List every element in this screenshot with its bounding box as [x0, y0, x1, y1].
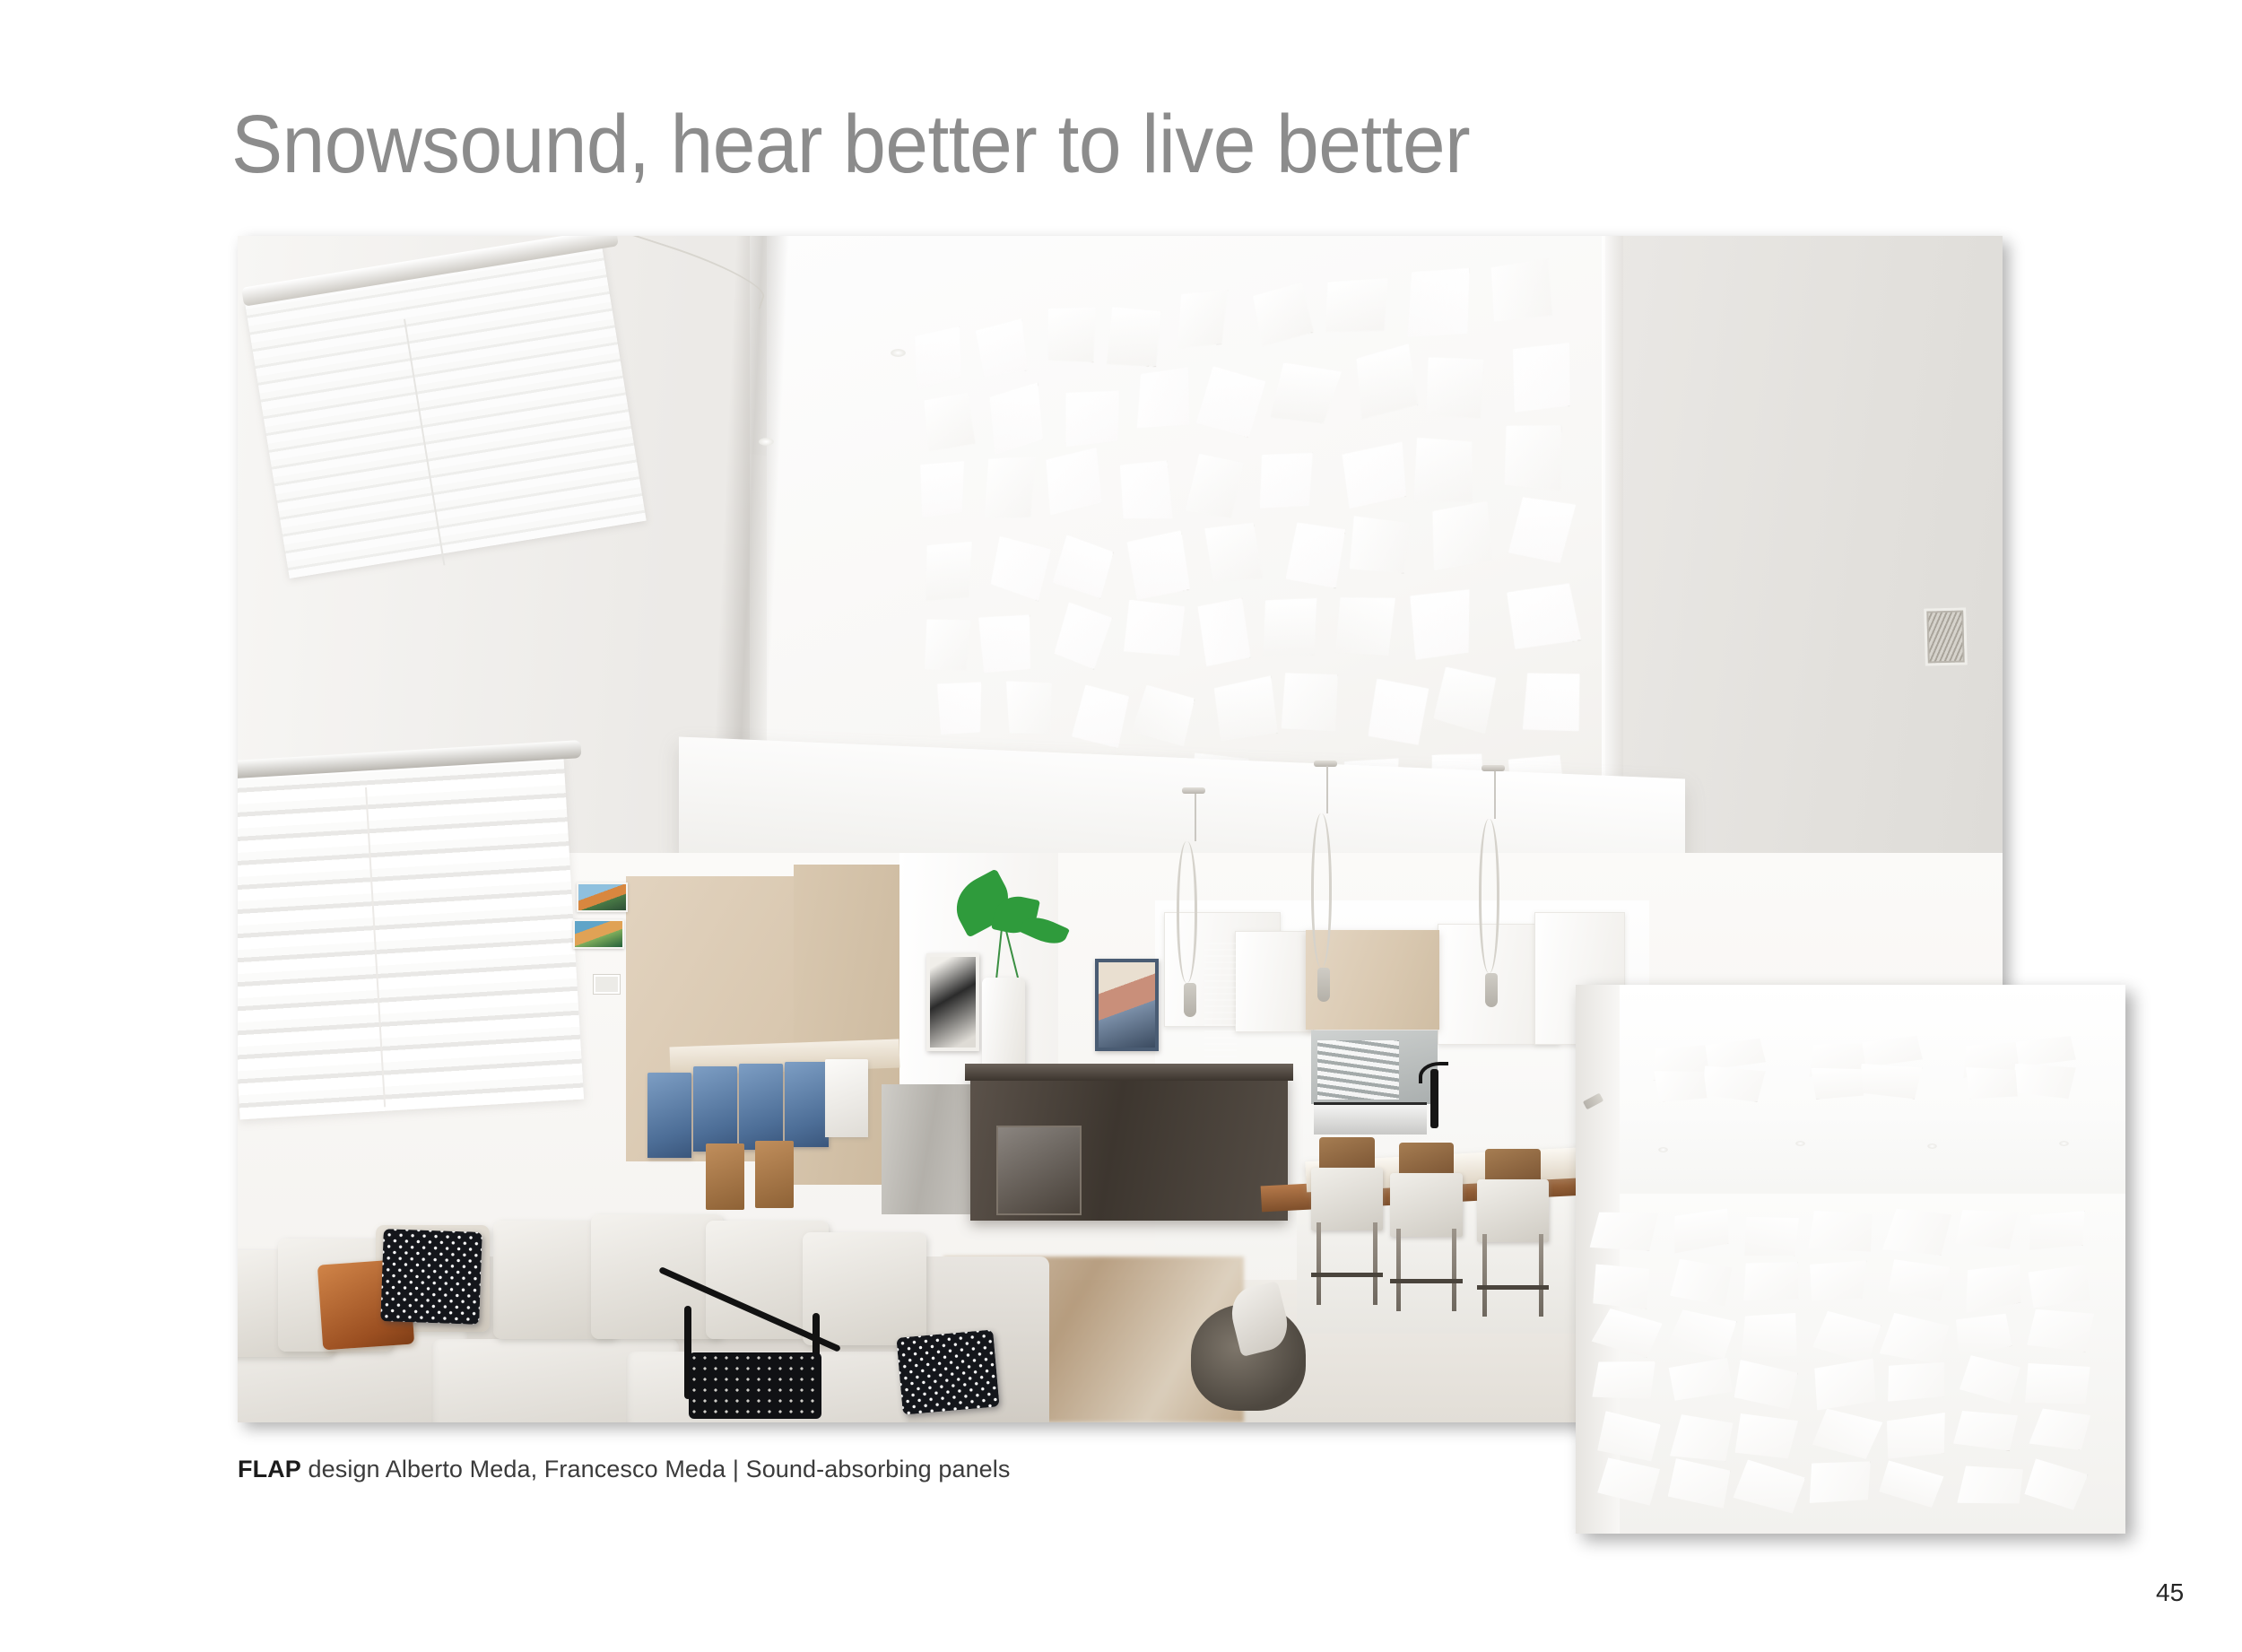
stool-leg [1539, 1234, 1543, 1317]
flap-panel [973, 316, 1035, 384]
photo-caption: FLAP design Alberto Meda, Francesco Meda… [238, 1456, 1011, 1483]
flap-panel [1261, 595, 1320, 659]
flap-panel [2012, 1064, 2075, 1099]
pendant-spiral [1479, 819, 1499, 973]
dining-chair [739, 1064, 783, 1149]
flap-panel [923, 615, 973, 674]
bar-countertop [965, 1064, 1293, 1081]
flap-panel [1966, 1067, 2018, 1099]
flap-panel [1133, 363, 1193, 436]
flap-panel [1812, 1066, 1864, 1100]
flap-panel [1740, 1213, 1803, 1259]
flap-panel [1423, 354, 1487, 422]
pendant-spiral [1311, 813, 1332, 968]
pendant-wire [1326, 766, 1328, 813]
cooktop [1314, 1102, 1427, 1135]
flap-panel [1737, 1311, 1801, 1361]
flap-panel [1812, 1309, 1881, 1365]
flap-panel [1040, 445, 1107, 517]
flap-panel [1348, 340, 1424, 423]
flap-panel [1270, 363, 1343, 424]
flap-panel [982, 454, 1039, 520]
flap-panel [1348, 515, 1411, 573]
kitchen-window-blind [1317, 1040, 1399, 1100]
flap-panel [1368, 679, 1429, 745]
flap-panel [1953, 1410, 2018, 1450]
page-number: 45 [2156, 1578, 2184, 1607]
caption-details: design Alberto Meda, Francesco Meda | So… [301, 1456, 1011, 1482]
framed-art [926, 953, 979, 1051]
flap-panel [917, 388, 979, 456]
inset-photo [1576, 985, 2125, 1534]
page-title: Snowsound, hear better to live better [231, 103, 1470, 186]
kitchen-cabinet [1235, 931, 1315, 1032]
flap-panel [1062, 382, 1123, 450]
stool-footrest [1477, 1285, 1550, 1290]
flap-panel [1432, 665, 1497, 735]
flap-panel [1247, 278, 1317, 351]
flap-panel [2029, 1407, 2091, 1450]
stool-seat [1477, 1179, 1550, 1243]
flap-panel [922, 536, 977, 606]
stool-leg [1317, 1222, 1321, 1305]
flap-panel [934, 678, 987, 737]
flap-panel [1590, 1211, 1659, 1252]
window-blinds-lower [238, 755, 584, 1119]
flap-panel [1106, 307, 1161, 368]
flap-panel [1482, 254, 1561, 329]
flap-panel [1285, 523, 1346, 589]
flap-panel [1954, 1465, 2025, 1504]
flap-panel [1410, 433, 1476, 505]
flap-panel [1519, 668, 1583, 737]
accent-pillow-dot [896, 1329, 999, 1414]
flap-panel [1424, 496, 1497, 577]
pendant-spiral [1177, 841, 1197, 984]
flap-panel [1406, 583, 1479, 665]
flap-panel [2022, 1361, 2091, 1406]
flap-panel [1501, 423, 1566, 494]
flap-panel [1804, 1456, 1875, 1507]
flap-panel [1958, 1257, 2028, 1316]
flap-panel [1124, 600, 1186, 656]
flap-panel [1593, 1264, 1650, 1309]
flap-panel [1176, 284, 1231, 352]
flap-panel [1124, 527, 1195, 604]
flap-panel [1210, 672, 1282, 749]
flap-panel [1887, 1259, 1951, 1301]
inset-flap-panel-grid [1592, 1210, 2108, 1523]
stool-seat [1311, 1168, 1384, 1231]
flap-panel [1338, 433, 1414, 516]
flap-panel [1504, 335, 1579, 420]
flap-panel [1666, 1204, 1735, 1256]
flap-panel [1702, 1065, 1766, 1102]
ceiling-flap-cluster [1653, 1039, 1766, 1102]
wine-fridge [996, 1126, 1082, 1214]
flap-panel [1335, 594, 1395, 659]
flap-panel [1195, 366, 1267, 439]
flap-panel [2025, 1205, 2090, 1255]
accent-pillow-dot [381, 1229, 483, 1325]
stool-footrest [1390, 1279, 1463, 1283]
flap-panel [1052, 534, 1115, 599]
dining-chair [785, 1062, 829, 1147]
flap-panel [985, 378, 1048, 458]
flap-panel [1670, 1258, 1732, 1307]
flap-panel [1201, 517, 1267, 588]
flap-panel [916, 455, 969, 521]
flap-panel [1732, 1458, 1806, 1515]
caption-product: FLAP [238, 1456, 301, 1482]
flap-panel [1590, 1359, 1659, 1403]
flap-panel [1499, 579, 1585, 654]
flap-panel [2024, 1258, 2095, 1312]
flap-panel [1879, 1311, 1950, 1364]
flap-panel [1053, 601, 1113, 672]
flap-panel [1072, 684, 1130, 749]
flap-panel [1597, 1456, 1661, 1507]
flap-panel [1881, 1409, 1953, 1465]
dining-chair [706, 1143, 744, 1210]
pendant-wire [1494, 771, 1496, 819]
flap-panel [990, 535, 1051, 603]
flap-panel [1325, 273, 1391, 339]
framed-art [1095, 959, 1159, 1051]
flap-panel [1664, 1309, 1737, 1360]
downlight-icon [759, 438, 774, 446]
flap-panel [1859, 1064, 1922, 1100]
pendant-wire [1195, 794, 1196, 841]
bar-stool [1390, 1173, 1463, 1310]
small-artwork [573, 919, 624, 949]
ceiling-flap-cluster [1810, 1037, 1923, 1100]
flap-panel [2023, 1458, 2090, 1512]
flap-panel [1116, 458, 1177, 526]
wall-vent-icon [1925, 608, 1968, 666]
bar-stool [1477, 1179, 1550, 1317]
flap-panel [1590, 1307, 1664, 1360]
flap-panel [1667, 1457, 1730, 1509]
flap-panel [1806, 1257, 1873, 1304]
pendant-tassel [1485, 973, 1498, 1007]
flap-panel [1003, 678, 1059, 737]
light-switch [593, 974, 621, 995]
pendant-tassel [1317, 968, 1330, 1002]
flap-panel [1882, 1359, 1950, 1404]
flap-panel [2027, 1309, 2095, 1352]
stool-leg [1452, 1229, 1456, 1311]
flap-panel [1185, 454, 1244, 519]
flap-panel [1131, 683, 1196, 746]
flap-panel [975, 605, 1038, 680]
flap-panel [1402, 265, 1475, 341]
flap-panel [1739, 1258, 1803, 1304]
flap-panel [1508, 496, 1577, 564]
stool-leg [1482, 1234, 1487, 1317]
small-artwork [577, 883, 628, 912]
flap-panel [1665, 1354, 1738, 1405]
steel-panel [882, 1084, 973, 1215]
dining-chair [825, 1059, 867, 1137]
dining-chair [693, 1066, 737, 1152]
flap-panel [1959, 1354, 2020, 1404]
flap-panel [1805, 1209, 1874, 1254]
bar-stool [1311, 1168, 1384, 1305]
flap-panel [1277, 670, 1343, 735]
flap-panel [1190, 592, 1258, 672]
flap-panel [1735, 1413, 1799, 1459]
dining-chair [647, 1073, 691, 1158]
pendant-tassel [1184, 983, 1196, 1017]
flap-panel [1734, 1360, 1798, 1410]
stool-leg [1373, 1222, 1377, 1305]
stool-leg [1396, 1229, 1401, 1311]
stroller-basket [689, 1352, 821, 1419]
flap-panel [1045, 302, 1099, 368]
dining-chair [755, 1141, 794, 1207]
flap-panel [1881, 1208, 1951, 1256]
flap-panel [1811, 1356, 1880, 1413]
flap-panel [1949, 1308, 2016, 1358]
stool-seat [1390, 1173, 1463, 1237]
flap-panel [1669, 1413, 1733, 1461]
flap-panel [1596, 1411, 1661, 1463]
ceiling-flap-cluster [1963, 1037, 2076, 1100]
flap-panel [908, 320, 969, 393]
downlight-icon [1658, 1147, 1668, 1152]
flap-panel [1255, 444, 1319, 517]
flap-panel [1954, 1210, 2019, 1249]
flap-panel [1879, 1459, 1945, 1509]
flap-panel [1655, 1069, 1708, 1102]
stroller [661, 1256, 891, 1422]
flap-panel [1812, 1407, 1883, 1460]
stool-footrest [1311, 1273, 1384, 1277]
